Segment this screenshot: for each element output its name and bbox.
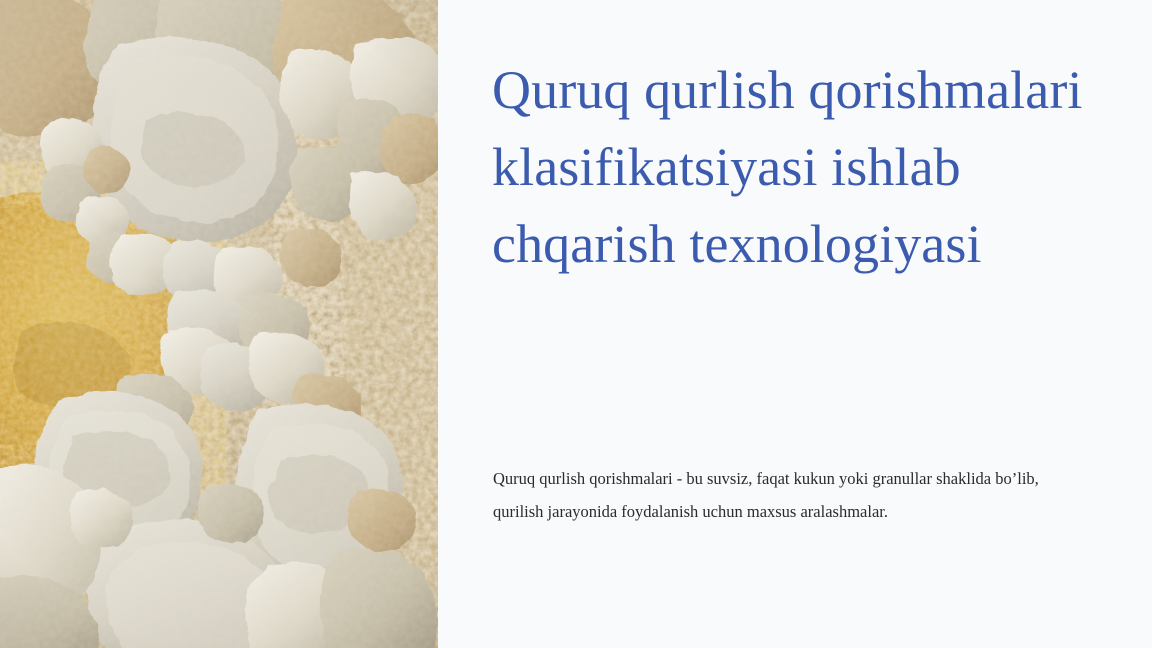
content-panel: Quruq qurlish qorishmalari klasifikatsiy…	[438, 0, 1152, 648]
slide-title: Quruq qurlish qorishmalari klasifikatsiy…	[492, 52, 1092, 283]
construction-aggregate-photo	[0, 0, 438, 648]
photo-illustration	[0, 0, 438, 648]
slide-root: Quruq qurlish qorishmalari klasifikatsiy…	[0, 0, 1152, 648]
slide-body-text: Quruq qurlish qorishmalari - bu suvsiz, …	[493, 462, 1093, 528]
